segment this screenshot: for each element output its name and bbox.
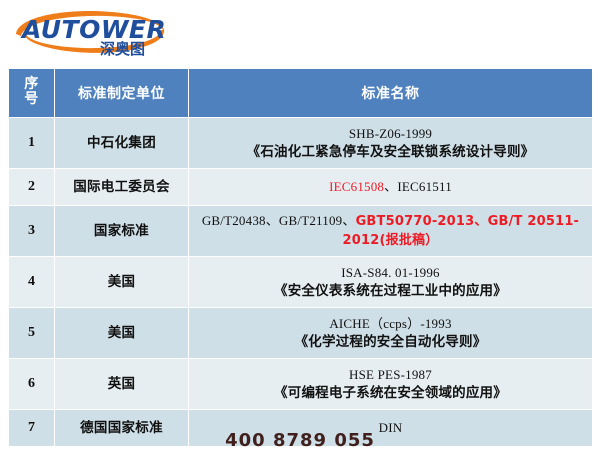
- standard-code-highlight: IEC61508: [329, 179, 384, 194]
- table-header-row: 序 号 标准制定单位 标准名称: [9, 69, 593, 118]
- cell-org: 美国: [55, 257, 189, 308]
- column-header-no-line1: 序: [9, 78, 54, 93]
- cell-name: ISA-S84. 01-1996 《安全仪表系统在过程工业中的应用》: [189, 257, 593, 308]
- cell-name: HSE PES-1987 《可编程电子系统在安全领域的应用》: [189, 359, 593, 410]
- cell-name: GB/T20438、GB/T21109、GBT50770-2013、GB/T 2…: [189, 206, 593, 257]
- table-row: 1 中石化集团 SHB-Z06-1999 《石油化工紧急停车及安全联锁系统设计导…: [9, 118, 593, 169]
- column-header-org: 标准制定单位: [55, 69, 189, 118]
- cell-name: IEC61508、IEC61511: [189, 169, 593, 206]
- cell-org: 中石化集团: [55, 118, 189, 169]
- standard-code: 、IEC61511: [384, 179, 452, 194]
- standard-code: HSE PES-1987: [193, 366, 588, 384]
- slide-page: AUTOWER 深奥图 序 号 标准制定单位 标准名称 1 中石化集: [0, 0, 600, 464]
- standard-code-highlight: GBT50770-2013、GB/T 20511-2012(报批稿）: [343, 214, 580, 248]
- standard-code: AICHE（ccps）-1993: [193, 315, 588, 333]
- cell-name: AICHE（ccps）-1993 《化学过程的安全自动化导则》: [189, 308, 593, 359]
- cell-no: 6: [9, 359, 55, 410]
- standard-code: ISA-S84. 01-1996: [193, 264, 588, 282]
- standards-table: 序 号 标准制定单位 标准名称 1 中石化集团 SHB-Z06-1999 《石油…: [8, 68, 593, 447]
- table-row: 5 美国 AICHE（ccps）-1993 《化学过程的安全自动化导则》: [9, 308, 593, 359]
- table-row: 6 英国 HSE PES-1987 《可编程电子系统在安全领域的应用》: [9, 359, 593, 410]
- standard-code: GB/T20438、GB/T21109、: [202, 213, 356, 228]
- logo-svg: AUTOWER 深奥图: [8, 6, 188, 58]
- standard-title: 《石油化工紧急停车及安全联锁系统设计导则》: [193, 143, 588, 161]
- cell-no: 5: [9, 308, 55, 359]
- standard-code: SHB-Z06-1999: [193, 125, 588, 143]
- standard-title: 《安全仪表系统在过程工业中的应用》: [193, 282, 588, 300]
- contact-phone: 400 8789 055: [0, 430, 600, 451]
- cell-org: 英国: [55, 359, 189, 410]
- cell-org: 美国: [55, 308, 189, 359]
- cell-no: 2: [9, 169, 55, 206]
- cell-org: 国家标准: [55, 206, 189, 257]
- cell-org: 国际电工委员会: [55, 169, 189, 206]
- column-header-no-line2: 号: [9, 93, 54, 108]
- standard-title: 《化学过程的安全自动化导则》: [193, 333, 588, 351]
- logo-cn-text: 深奥图: [100, 40, 145, 58]
- cell-no: 3: [9, 206, 55, 257]
- table-row: 2 国际电工委员会 IEC61508、IEC61511: [9, 169, 593, 206]
- cell-name: SHB-Z06-1999 《石油化工紧急停车及安全联锁系统设计导则》: [189, 118, 593, 169]
- column-header-name: 标准名称: [189, 69, 593, 118]
- standard-title: 《可编程电子系统在安全领域的应用》: [193, 384, 588, 402]
- cell-no: 1: [9, 118, 55, 169]
- cell-no: 4: [9, 257, 55, 308]
- company-logo: AUTOWER 深奥图: [8, 6, 188, 58]
- column-header-no: 序 号: [9, 69, 55, 118]
- table-row: 3 国家标准 GB/T20438、GB/T21109、GBT50770-2013…: [9, 206, 593, 257]
- table-row: 4 美国 ISA-S84. 01-1996 《安全仪表系统在过程工业中的应用》: [9, 257, 593, 308]
